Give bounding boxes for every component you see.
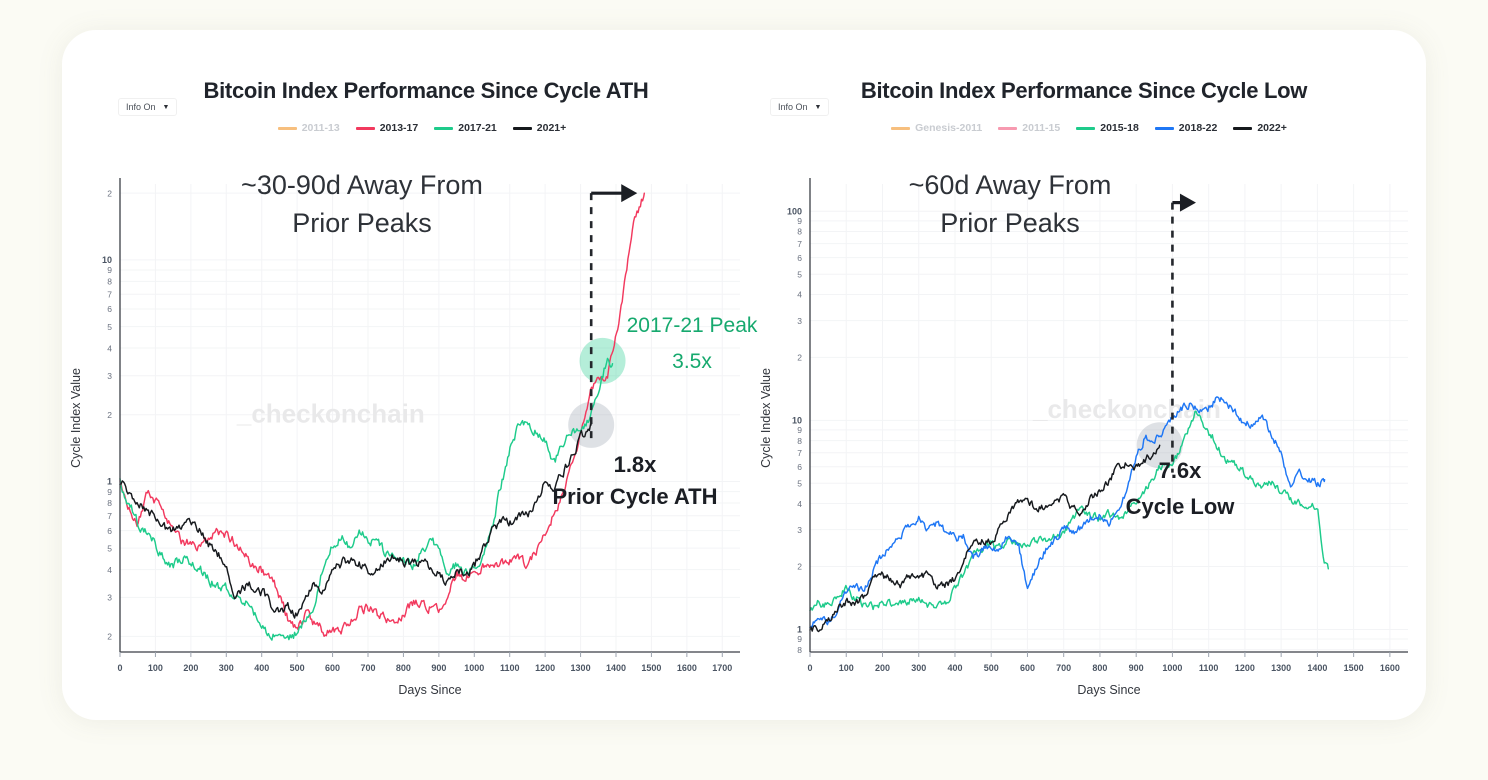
x-tick-label: 300 — [911, 663, 926, 673]
y-tick-label: 6 — [797, 253, 802, 263]
x-tick-label: 100 — [839, 663, 854, 673]
legend-item-2011-15[interactable]: 2011-15 — [998, 122, 1060, 134]
x-tick-label: 1200 — [1235, 663, 1255, 673]
x-tick-label: 1300 — [571, 663, 591, 673]
y-tick-label: 1 — [107, 477, 112, 487]
x-tick-label: 200 — [875, 663, 890, 673]
annotation-bold-line2: Prior Cycle ATH — [552, 484, 717, 509]
x-tick-label: 1100 — [500, 663, 520, 673]
y-tick-label: 2 — [797, 562, 802, 572]
page-root: Bitcoin Index Performance Since Cycle AT… — [0, 0, 1488, 780]
legend-left: 2011-132013-172017-212021+ — [62, 122, 762, 134]
x-tick-label: 1500 — [1344, 663, 1364, 673]
x-tick-label: 1200 — [535, 663, 555, 673]
legend-label: 2018-22 — [1179, 122, 1218, 134]
panel-cycle-ath: Bitcoin Index Performance Since Cycle AT… — [62, 30, 762, 720]
x-tick-label: 600 — [325, 663, 340, 673]
legend-item-2013-17[interactable]: 2013-17 — [356, 122, 419, 134]
y-tick-label: 9 — [107, 487, 112, 497]
x-tick-label: 1300 — [1271, 663, 1291, 673]
annotation-headline-line1: ~60d Away From — [909, 170, 1112, 200]
legend-swatch-icon — [1155, 127, 1174, 130]
chevron-down-icon: ▼ — [815, 104, 822, 111]
x-axis-label: Days Since — [1077, 683, 1140, 697]
y-tick-label: 2 — [107, 410, 112, 420]
y-tick-label: 9 — [797, 425, 802, 435]
x-tick-label: 1700 — [712, 663, 732, 673]
x-tick-label: 500 — [290, 663, 305, 673]
legend-swatch-icon — [1233, 127, 1252, 130]
y-tick-label: 8 — [797, 436, 802, 446]
legend-swatch-icon — [278, 127, 297, 130]
legend-label: Genesis-2011 — [915, 122, 982, 134]
annotation-headline-line2: Prior Peaks — [940, 208, 1080, 238]
y-tick-label: 9 — [797, 216, 802, 226]
annotation-headline-line2: Prior Peaks — [292, 208, 432, 238]
info-toggle-label-left: Info On — [126, 102, 156, 112]
info-toggle-right[interactable]: Info On ▼ — [770, 98, 829, 116]
y-tick-label: 7 — [107, 289, 112, 299]
y-tick-label: 4 — [797, 499, 802, 509]
y-tick-label: 7 — [797, 448, 802, 458]
annotation-bold-line2: Cycle Low — [1126, 494, 1236, 519]
y-tick-label: 5 — [797, 478, 802, 488]
page-title-right: Bitcoin Index Performance Since Cycle Lo… — [752, 78, 1426, 104]
chart-svg-cycle-ath: _checkonchain010020030040050060070080090… — [62, 142, 762, 720]
x-tick-label: 900 — [1129, 663, 1144, 673]
chevron-down-icon: ▼ — [163, 104, 170, 111]
y-tick-label: 3 — [107, 371, 112, 381]
legend-item-2011-13[interactable]: 2011-13 — [278, 122, 340, 134]
y-tick-label: 5 — [107, 543, 112, 553]
annotation-arrow-head-icon — [1180, 194, 1196, 212]
x-tick-label: 300 — [219, 663, 234, 673]
x-tick-label: 1100 — [1199, 663, 1219, 673]
legend-label: 2013-17 — [380, 122, 419, 134]
y-tick-label: 9 — [797, 634, 802, 644]
y-tick-label: 2 — [797, 353, 802, 363]
annotation-headline-line1: ~30-90d Away From — [241, 170, 483, 200]
plot-area-right[interactable]: _checkonchain010020030040050060070080090… — [752, 142, 1426, 720]
legend-item-2022-[interactable]: 2022+ — [1233, 122, 1287, 134]
chart-svg-cycle-low: _checkonchain010020030040050060070080090… — [752, 142, 1426, 720]
annotation-green-line2: 3.5x — [672, 350, 712, 373]
y-tick-label: 5 — [107, 322, 112, 332]
panel-cycle-low: Bitcoin Index Performance Since Cycle Lo… — [752, 30, 1426, 720]
y-tick-label: 6 — [797, 462, 802, 472]
y-tick-label: 9 — [107, 265, 112, 275]
y-tick-label: 2 — [107, 632, 112, 642]
x-tick-label: 900 — [431, 663, 446, 673]
y-tick-label: 10 — [102, 255, 112, 265]
info-toggle-left[interactable]: Info On ▼ — [118, 98, 177, 116]
y-tick-label: 100 — [787, 206, 802, 216]
y-tick-label: 7 — [107, 511, 112, 521]
y-tick-label: 4 — [107, 343, 112, 353]
y-tick-label: 6 — [107, 526, 112, 536]
series-line-2018-22 — [810, 397, 1325, 628]
x-tick-label: 1000 — [1162, 663, 1182, 673]
x-tick-label: 800 — [1092, 663, 1107, 673]
legend-swatch-icon — [1076, 127, 1095, 130]
legend-item-genesis-2011[interactable]: Genesis-2011 — [891, 122, 982, 134]
chart-card: Bitcoin Index Performance Since Cycle AT… — [62, 30, 1426, 720]
legend-swatch-icon — [891, 127, 910, 130]
y-axis-label: Cycle Index Value — [759, 368, 773, 468]
legend-label: 2022+ — [1257, 122, 1287, 134]
y-tick-label: 8 — [107, 277, 112, 287]
x-tick-label: 400 — [947, 663, 962, 673]
y-tick-label: 8 — [797, 645, 802, 655]
legend-right: Genesis-20112011-152015-182018-222022+ — [752, 122, 1426, 134]
annotation-bold-line1: 1.8x — [614, 452, 658, 477]
plot-area-left[interactable]: _checkonchain010020030040050060070080090… — [62, 142, 762, 720]
y-tick-label: 10 — [792, 416, 802, 426]
x-tick-label: 1500 — [641, 663, 661, 673]
x-tick-label: 1600 — [677, 663, 697, 673]
legend-swatch-icon — [356, 127, 375, 130]
y-tick-label: 3 — [107, 593, 112, 603]
legend-label: 2017-21 — [458, 122, 497, 134]
legend-label: 2011-15 — [1022, 122, 1060, 134]
x-tick-label: 100 — [148, 663, 163, 673]
y-tick-label: 7 — [797, 239, 802, 249]
x-tick-label: 600 — [1020, 663, 1035, 673]
x-tick-label: 1000 — [464, 663, 484, 673]
legend-swatch-icon — [513, 127, 532, 130]
x-tick-label: 1600 — [1380, 663, 1400, 673]
legend-label: 2021+ — [537, 122, 567, 134]
x-tick-label: 700 — [1056, 663, 1071, 673]
legend-swatch-icon — [434, 127, 453, 130]
y-tick-label: 8 — [107, 498, 112, 508]
y-tick-label: 3 — [797, 316, 802, 326]
annotation-bold-line1: 7.6x — [1159, 458, 1203, 483]
x-tick-label: 200 — [183, 663, 198, 673]
annotation-green-line1: 2017-21 Peak — [627, 314, 758, 337]
legend-label: 2015-18 — [1100, 122, 1139, 134]
x-axis-label: Days Since — [398, 683, 461, 697]
x-tick-label: 700 — [360, 663, 375, 673]
series-line-2022- — [810, 445, 1160, 631]
y-tick-label: 4 — [797, 290, 802, 300]
x-tick-label: 500 — [984, 663, 999, 673]
annotation-arrow-head-icon — [621, 184, 637, 202]
legend-swatch-icon — [998, 127, 1017, 130]
y-tick-label: 1 — [797, 625, 802, 635]
y-tick-label: 3 — [797, 525, 802, 535]
x-tick-label: 800 — [396, 663, 411, 673]
x-tick-label: 0 — [117, 663, 122, 673]
legend-item-2015-18[interactable]: 2015-18 — [1076, 122, 1139, 134]
legend-item-2018-22[interactable]: 2018-22 — [1155, 122, 1218, 134]
x-tick-label: 1400 — [1307, 663, 1327, 673]
legend-item-2017-21[interactable]: 2017-21 — [434, 122, 497, 134]
y-axis-label: Cycle Index Value — [69, 368, 83, 468]
y-tick-label: 5 — [797, 269, 802, 279]
info-toggle-label-right: Info On — [778, 102, 808, 112]
x-tick-label: 400 — [254, 663, 269, 673]
x-tick-label: 0 — [807, 663, 812, 673]
watermark: _checkonchain — [236, 399, 425, 429]
x-tick-label: 1400 — [606, 663, 626, 673]
y-tick-label: 8 — [797, 227, 802, 237]
y-tick-label: 6 — [107, 304, 112, 314]
y-tick-label: 2 — [107, 188, 112, 198]
legend-item-2021-[interactable]: 2021+ — [513, 122, 567, 134]
y-tick-label: 4 — [107, 565, 112, 575]
legend-label: 2011-13 — [302, 122, 340, 134]
